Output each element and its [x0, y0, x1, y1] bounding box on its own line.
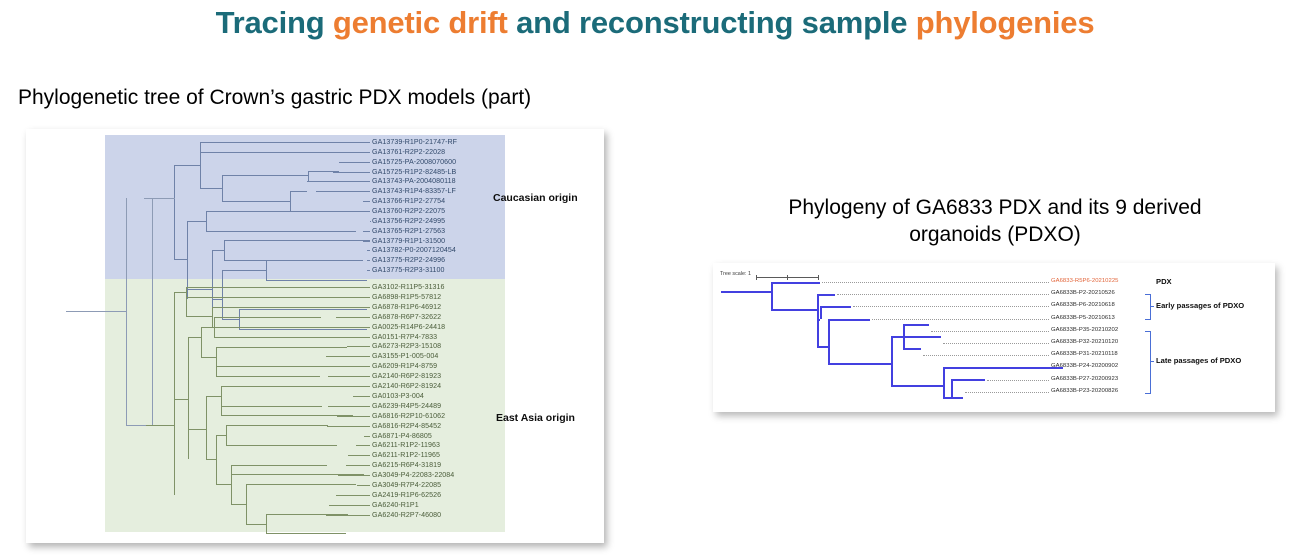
- page-title-part-3: and reconstructing sample: [508, 5, 916, 40]
- group-bracket: [1145, 331, 1151, 394]
- leaf-label: GA6833B-P6-20210618: [1051, 302, 1115, 309]
- leaf-connector: [872, 319, 1049, 321]
- leaf-label: GA13775-R2P3-31100: [372, 266, 445, 274]
- tree-branch: [266, 260, 363, 261]
- tree-branch: [66, 311, 126, 312]
- tree-branch: [828, 363, 891, 365]
- leaf-label: GA6833B-P32-20210120: [1051, 339, 1118, 346]
- tree-branch: [903, 324, 929, 326]
- tree-branch: [290, 191, 291, 211]
- leaf-connector: [987, 380, 1049, 382]
- tree-branch: [224, 240, 225, 260]
- tree-branch: [327, 426, 370, 427]
- tree-branch: [200, 152, 363, 153]
- tree-branch: [353, 396, 370, 397]
- tree-branch: [309, 307, 370, 308]
- tree-branch: [221, 386, 222, 415]
- tree-branch: [363, 201, 370, 202]
- tree-branch: [187, 221, 206, 222]
- tree-scale-tick-start: [756, 275, 757, 280]
- leaf-connector: [931, 331, 1049, 333]
- leaf-label: GA13766-R1P2-27754: [372, 197, 445, 205]
- leaf-connector: [822, 282, 1049, 284]
- tree-branch: [188, 337, 201, 338]
- leaf-label: GA13761-R2P2-22028: [372, 148, 445, 156]
- tree-branch: [308, 171, 339, 172]
- tree-branch: [206, 211, 207, 231]
- tree-branch: [216, 366, 326, 367]
- tree-branch: [820, 306, 851, 308]
- tree-branch: [771, 309, 817, 311]
- tree-branch: [226, 425, 227, 445]
- tree-branch: [174, 165, 175, 259]
- tree-branch: [126, 198, 127, 425]
- tree-branch: [328, 297, 370, 298]
- tree-branch: [817, 294, 835, 296]
- tree-branch: [239, 309, 367, 310]
- tree-branch: [206, 459, 216, 460]
- leaf-label: GA6833-R5P6-20210225: [1051, 278, 1118, 285]
- tree-branch: [300, 142, 370, 143]
- page-title-part-1: Tracing: [216, 5, 333, 40]
- right-panel-heading-line-1: Phylogeny of GA6833 PDX and its 9 derive…: [700, 194, 1290, 221]
- tree-branch: [144, 198, 174, 199]
- tree-branch: [226, 445, 337, 446]
- tree-branch: [328, 337, 370, 338]
- tree-branch: [318, 287, 370, 288]
- tree-branch: [326, 356, 370, 357]
- tree-branch: [337, 416, 370, 417]
- tree-branch: [231, 465, 232, 504]
- tree-branch: [246, 484, 247, 524]
- leaf-label: GA6898-R1P5-57812: [372, 293, 441, 301]
- leaf-label: GA0103-P3-004: [372, 392, 424, 400]
- leaf-label: GA13760-R2P2-22075: [372, 207, 445, 215]
- tree-branch: [951, 379, 953, 397]
- tree-branch: [356, 445, 370, 446]
- tree-branch: [212, 299, 222, 300]
- tree-branch: [221, 415, 353, 416]
- leaf-label: GA0151-R7P4-7833: [372, 333, 437, 341]
- tree-scale-label: Tree scale: 1: [720, 271, 751, 277]
- leaf-connector: [837, 294, 1049, 296]
- tree-branch: [186, 316, 212, 317]
- tree-branch: [200, 142, 300, 143]
- tree-branch: [174, 399, 188, 400]
- tree-branch: [187, 289, 212, 290]
- tree-branch: [231, 465, 327, 466]
- tree-branch: [347, 346, 370, 347]
- leaf-label: GA6209-R1P4-8759: [372, 362, 437, 370]
- tree-branch: [329, 505, 370, 506]
- group-bracket: [1145, 294, 1151, 320]
- leaf-label: GA13743-PA-2004080118: [372, 177, 456, 185]
- leaf-label: GA15725-R1P2-82485-LB: [372, 168, 456, 176]
- tree-branch: [348, 455, 370, 456]
- tree-branch: [246, 484, 356, 485]
- tree-branch: [226, 425, 328, 426]
- tree-branch: [222, 270, 266, 271]
- page-title: Tracing genetic drift and reconstructing…: [0, 0, 1310, 41]
- leaf-label: GA6833B-P24-20200902: [1051, 363, 1118, 370]
- tree-branch: [357, 485, 370, 486]
- tree-branch: [891, 336, 903, 338]
- tree-branch: [221, 406, 322, 407]
- annotation-label: Late passages of PDXO: [1156, 356, 1241, 365]
- tree-branch: [146, 425, 174, 426]
- leaf-label: GA2419-R1P6-62526: [372, 491, 441, 499]
- leaf-label: GA6833B-P31-20210118: [1051, 351, 1118, 358]
- leaf-label: GA6833B-P2-20210526: [1051, 290, 1115, 297]
- tree-branch: [222, 175, 223, 201]
- tree-branch: [206, 396, 221, 397]
- leaf-label: GA6833B-P5-20210613: [1051, 315, 1115, 322]
- tree-branch: [364, 436, 370, 437]
- tree-branch: [201, 327, 214, 328]
- tree-branch: [222, 175, 308, 176]
- tree-branch: [216, 435, 226, 436]
- tree-branch: [214, 317, 215, 337]
- tree-branch: [212, 250, 224, 251]
- tree-branch: [951, 397, 963, 399]
- tree-branch: [201, 327, 202, 357]
- tree-branch: [186, 287, 318, 288]
- tree-branch: [246, 524, 266, 525]
- tree-branch: [308, 181, 333, 182]
- leaf-label: GA2140-R6P2-81924: [372, 382, 441, 390]
- tree-branch: [363, 231, 370, 232]
- leaf-label: GA13775-R2P2-24996: [372, 256, 445, 264]
- leaf-label: GA15725-PA-2008070600: [372, 158, 456, 166]
- tree-branch: [222, 270, 223, 319]
- tree-branch: [214, 317, 321, 318]
- tree-branch: [266, 533, 346, 534]
- leaf-connector: [923, 355, 1049, 357]
- leaf-label: GA0025-R14P6-24418: [372, 323, 445, 331]
- tree-branch: [174, 165, 200, 166]
- tree-branch: [200, 188, 222, 189]
- leaf-label: GA3102-R11P5-31316: [372, 283, 445, 291]
- tree-branch: [214, 337, 328, 338]
- tree-branch: [212, 327, 336, 328]
- tree-branch: [903, 348, 921, 350]
- tree-branch: [336, 495, 370, 496]
- tree-branch: [222, 201, 290, 202]
- tree-branch: [336, 317, 370, 318]
- tree-branch: [206, 396, 207, 459]
- tree-branch: [222, 319, 239, 320]
- tree-branch: [891, 385, 943, 387]
- leaf-label: GA6273-R2P3-15108: [372, 342, 441, 350]
- leaf-connector: [965, 392, 1049, 394]
- leaf-label: GA2140-R6P2-81923: [372, 372, 441, 380]
- tree-branch: [186, 287, 187, 316]
- tree-scale-tick-end: [818, 275, 819, 280]
- tree-branch: [216, 347, 347, 348]
- tree-branch: [188, 429, 206, 430]
- leaf-connector: [943, 343, 1049, 345]
- tree-branch: [951, 379, 985, 381]
- tree-branch: [188, 337, 189, 459]
- annotation-label: Early passages of PDXO: [1156, 301, 1244, 310]
- left-panel-heading: Phylogenetic tree of Crown’s gastric PDX…: [18, 86, 531, 110]
- tree-branch: [152, 198, 153, 425]
- group-tag-caucasian: Caucasian origin: [493, 192, 578, 204]
- leaf-label: GA13739-R1P0-21747-RF: [372, 138, 457, 146]
- tree-branch: [212, 307, 213, 327]
- tree-branch: [174, 259, 187, 260]
- leaf-label: GA6878-R1P6-46912: [372, 303, 441, 311]
- leaf-label: GA13782-P0-2007120454: [372, 246, 456, 254]
- tree-branch: [231, 474, 364, 475]
- leaf-label: GA3049-P4-22083-22084: [372, 471, 454, 479]
- tree-branch: [266, 514, 348, 515]
- tree-branch: [266, 514, 267, 533]
- tree-branch: [367, 250, 370, 251]
- tree-branch: [326, 515, 370, 516]
- tree-branch: [216, 484, 231, 485]
- tree-branch: [721, 291, 771, 293]
- tree-branch: [363, 241, 370, 242]
- page-title-part-4: phylogenies: [916, 5, 1095, 40]
- leaf-label: GA6878-R6P7-32622: [372, 313, 441, 321]
- tree-branch: [828, 319, 830, 363]
- leaf-label: GA6240-R1P1: [372, 501, 419, 509]
- tree-branch: [174, 292, 175, 495]
- tree-branch: [771, 282, 820, 284]
- tree-branch: [290, 191, 307, 192]
- tree-branch: [367, 270, 370, 271]
- tree-scale-tick-mid: [787, 275, 788, 280]
- tree-branch: [943, 367, 1063, 369]
- tree-branch: [206, 211, 363, 212]
- tree-branch: [174, 198, 175, 199]
- leaf-label: GA6833B-P27-20200923: [1051, 376, 1118, 383]
- page-title-part-2: genetic drift: [333, 5, 508, 40]
- tree-branch: [231, 504, 246, 505]
- tree-branch: [316, 191, 370, 192]
- tree-branch: [239, 329, 367, 330]
- tree-branch: [817, 319, 820, 321]
- tree-branch: [817, 346, 828, 348]
- leaf-connector: [853, 306, 1049, 308]
- leaf-label: GA13779-R1P1-31500: [372, 237, 445, 245]
- tree-branch: [266, 260, 267, 280]
- tree-branch: [322, 386, 370, 387]
- tree-branch: [216, 376, 320, 377]
- group-bracket-stub: [1150, 306, 1154, 307]
- tree-branch: [891, 336, 893, 385]
- leaf-label: GA6816-R2P4-85452: [372, 422, 441, 430]
- leaf-label: GA6833B-P23-20200826: [1051, 388, 1118, 395]
- tree-branch: [201, 357, 216, 358]
- tree-branch: [320, 366, 370, 367]
- tree-branch: [333, 172, 370, 173]
- tree-branch: [328, 406, 370, 407]
- tree-branch: [367, 260, 370, 261]
- leaf-label: GA3155-P1-005-004: [372, 352, 438, 360]
- leaf-label: GA6240-R2P7-46080: [372, 511, 441, 519]
- leaf-label: GA13743-R1P4-83357-LF: [372, 187, 456, 195]
- tree-branch: [216, 435, 217, 484]
- tree-branch: [206, 231, 356, 232]
- group-tag-east-asia: East Asia origin: [496, 412, 575, 424]
- tree-branch: [903, 336, 941, 338]
- tree-branch: [943, 397, 951, 399]
- tree-branch: [370, 221, 371, 222]
- tree-branch: [186, 297, 328, 298]
- tree-branch: [308, 171, 309, 181]
- leaf-label: GA6833B-P35-20210202: [1051, 327, 1118, 334]
- leaf-label: GA6211-R1P2-11965: [372, 451, 440, 459]
- pdxo-phylogeny-figure: Tree scale: 1 GA6833-R5P6-20210225GA6833…: [713, 263, 1275, 412]
- tree-branch: [943, 367, 945, 397]
- tree-branch: [346, 465, 370, 466]
- tree-branch: [224, 240, 370, 241]
- tree-branch: [338, 475, 370, 476]
- tree-branch: [771, 282, 773, 309]
- right-panel-heading: Phylogeny of GA6833 PDX and its 9 derive…: [700, 194, 1290, 248]
- tree-branch: [339, 162, 370, 163]
- tree-branch: [266, 280, 367, 281]
- leaf-label: GA6239-R4P5-24489: [372, 402, 441, 410]
- annotation-label: PDX: [1156, 277, 1172, 286]
- right-panel-heading-line-2: organoids (PDXO): [700, 221, 1290, 248]
- tree-branch: [828, 319, 870, 321]
- group-bracket-stub: [1150, 361, 1154, 362]
- leaf-label: GA6215-R6P4-31819: [372, 461, 441, 469]
- leaf-label: GA6816-R2P10-61062: [372, 412, 445, 420]
- leaf-label: GA6211-R1P2-11963: [372, 441, 440, 449]
- tree-branch: [328, 376, 370, 377]
- tree-branch: [126, 425, 146, 426]
- leaf-label: GA6871-P4-86805: [372, 432, 432, 440]
- leaf-label: GA13765-R2P1-27563: [372, 227, 445, 235]
- tree-branch: [200, 142, 201, 188]
- tree-branch: [212, 307, 309, 308]
- tree-branch: [221, 386, 328, 387]
- tree-branch: [174, 292, 186, 293]
- tree-branch: [239, 309, 240, 329]
- tree-branch: [363, 152, 370, 153]
- leaf-label: GA3049-R7P4-22085: [372, 481, 441, 489]
- leaf-label: GA13756-R2P2-24995: [372, 217, 445, 225]
- tree-scale-bar: [756, 275, 819, 280]
